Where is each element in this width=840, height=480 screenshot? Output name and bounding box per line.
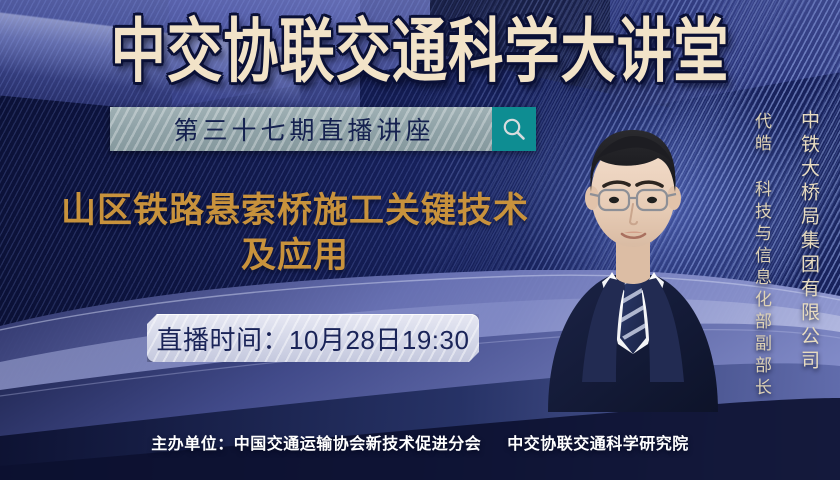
footer-org-2: 中交协联交通科学研究院 (507, 436, 689, 453)
footer-org-1: 中国交通运输协会新技术促进分会 (234, 436, 482, 453)
speaker-name-title: 代皓 科技与信息化部副部长 (749, 112, 774, 400)
lecture-title-line-1: 山区铁路悬索桥施工关键技术 (30, 188, 560, 233)
session-label: 第三十七期直播讲座 (110, 107, 492, 151)
footer-prefix: 主办单位： (151, 436, 234, 453)
search-button[interactable] (492, 107, 536, 151)
session-band: 第三十七期直播讲座 (110, 107, 536, 151)
footer-organizers: 主办单位：中国交通运输协会新技术促进分会中交协联交通科学研究院 (0, 430, 840, 454)
schedule-text: 直播时间：10月28日19:30 (157, 320, 470, 357)
search-icon (501, 116, 527, 142)
schedule-badge: 直播时间：10月28日19:30 (147, 314, 479, 362)
lecture-title: 山区铁路悬索桥施工关键技术 及应用 (30, 188, 560, 278)
lecture-title-line-2: 及应用 (30, 233, 560, 278)
speaker-portrait (530, 82, 730, 412)
page-title: 中交协联交通科学大讲堂 (13, 14, 828, 90)
speaker-organization: 中铁大桥局集团有限公司 (795, 110, 822, 374)
live-lecture-poster: 中交协联交通科学大讲堂 第三十七期直播讲座 山区铁路悬索桥施工关键技术 及应用 … (0, 0, 840, 480)
